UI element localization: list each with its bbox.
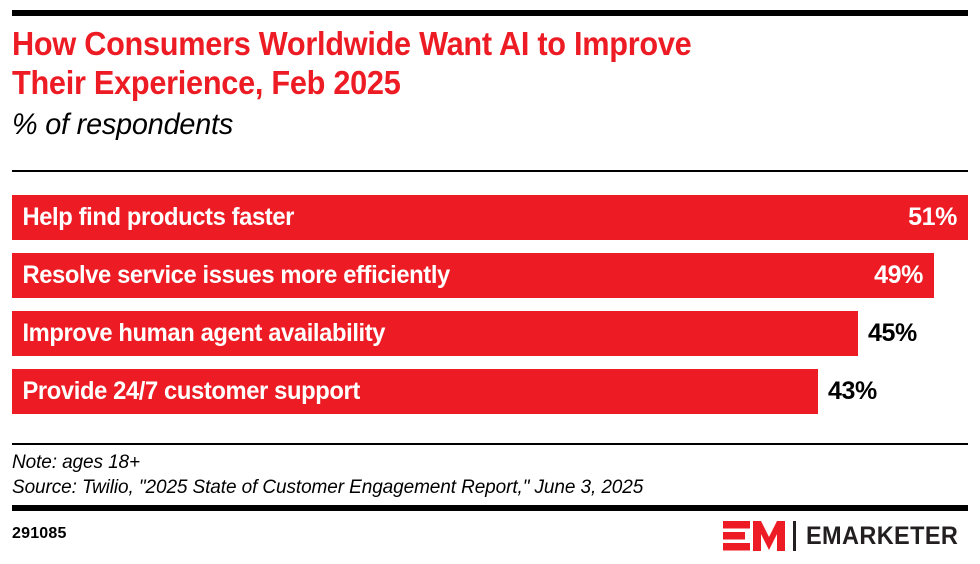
brand-wordmark: EMARKETER bbox=[806, 522, 958, 551]
bar-chart: Help find products faster 51% Resolve se… bbox=[12, 195, 968, 427]
chart-subtitle: % of respondents bbox=[12, 108, 930, 142]
bar-row: Help find products faster 51% bbox=[12, 195, 968, 240]
chart-card: How Consumers Worldwide Want AI to Impro… bbox=[0, 0, 980, 564]
bar-fill-0: Help find products faster 51% bbox=[12, 195, 968, 240]
bar-category-label: Improve human agent availability bbox=[12, 319, 385, 348]
logo-divider bbox=[793, 521, 796, 551]
bar-row: Improve human agent availability 45% bbox=[12, 311, 968, 356]
bar-category-label: Resolve service issues more efficiently bbox=[12, 261, 450, 290]
chart-note: Note: ages 18+ bbox=[12, 450, 968, 475]
subhead-rule bbox=[12, 170, 968, 172]
footer-block: 291085 EMARKETER bbox=[12, 519, 968, 555]
top-rule bbox=[12, 10, 968, 16]
em-monogram-icon bbox=[723, 520, 785, 552]
bar-fill-3: Provide 24/7 customer support bbox=[12, 369, 818, 414]
page-title: How Consumers Worldwide Want AI to Impro… bbox=[12, 24, 901, 102]
notes-block: Note: ages 18+ Source: Twilio, "2025 Sta… bbox=[12, 450, 968, 500]
header-block: How Consumers Worldwide Want AI to Impro… bbox=[12, 24, 968, 142]
bar-value-label: 51% bbox=[908, 195, 957, 240]
bar-value-label: 45% bbox=[868, 311, 917, 356]
emarketer-logo: EMARKETER bbox=[723, 519, 968, 553]
bar-row: Resolve service issues more efficiently … bbox=[12, 253, 968, 298]
bar-fill-1: Resolve service issues more efficiently … bbox=[12, 253, 934, 298]
bar-fill-2: Improve human agent availability bbox=[12, 311, 858, 356]
chart-source: Source: Twilio, "2025 State of Customer … bbox=[12, 475, 968, 500]
bar-category-label: Help find products faster bbox=[12, 203, 294, 232]
bar-value-label: 43% bbox=[828, 369, 877, 414]
note-rule bbox=[12, 443, 968, 445]
bar-category-label: Provide 24/7 customer support bbox=[12, 377, 360, 406]
footer-rule bbox=[12, 505, 968, 511]
chart-id: 291085 bbox=[12, 525, 67, 543]
bar-value-label: 49% bbox=[874, 253, 923, 298]
bar-row: Provide 24/7 customer support 43% bbox=[12, 369, 968, 414]
